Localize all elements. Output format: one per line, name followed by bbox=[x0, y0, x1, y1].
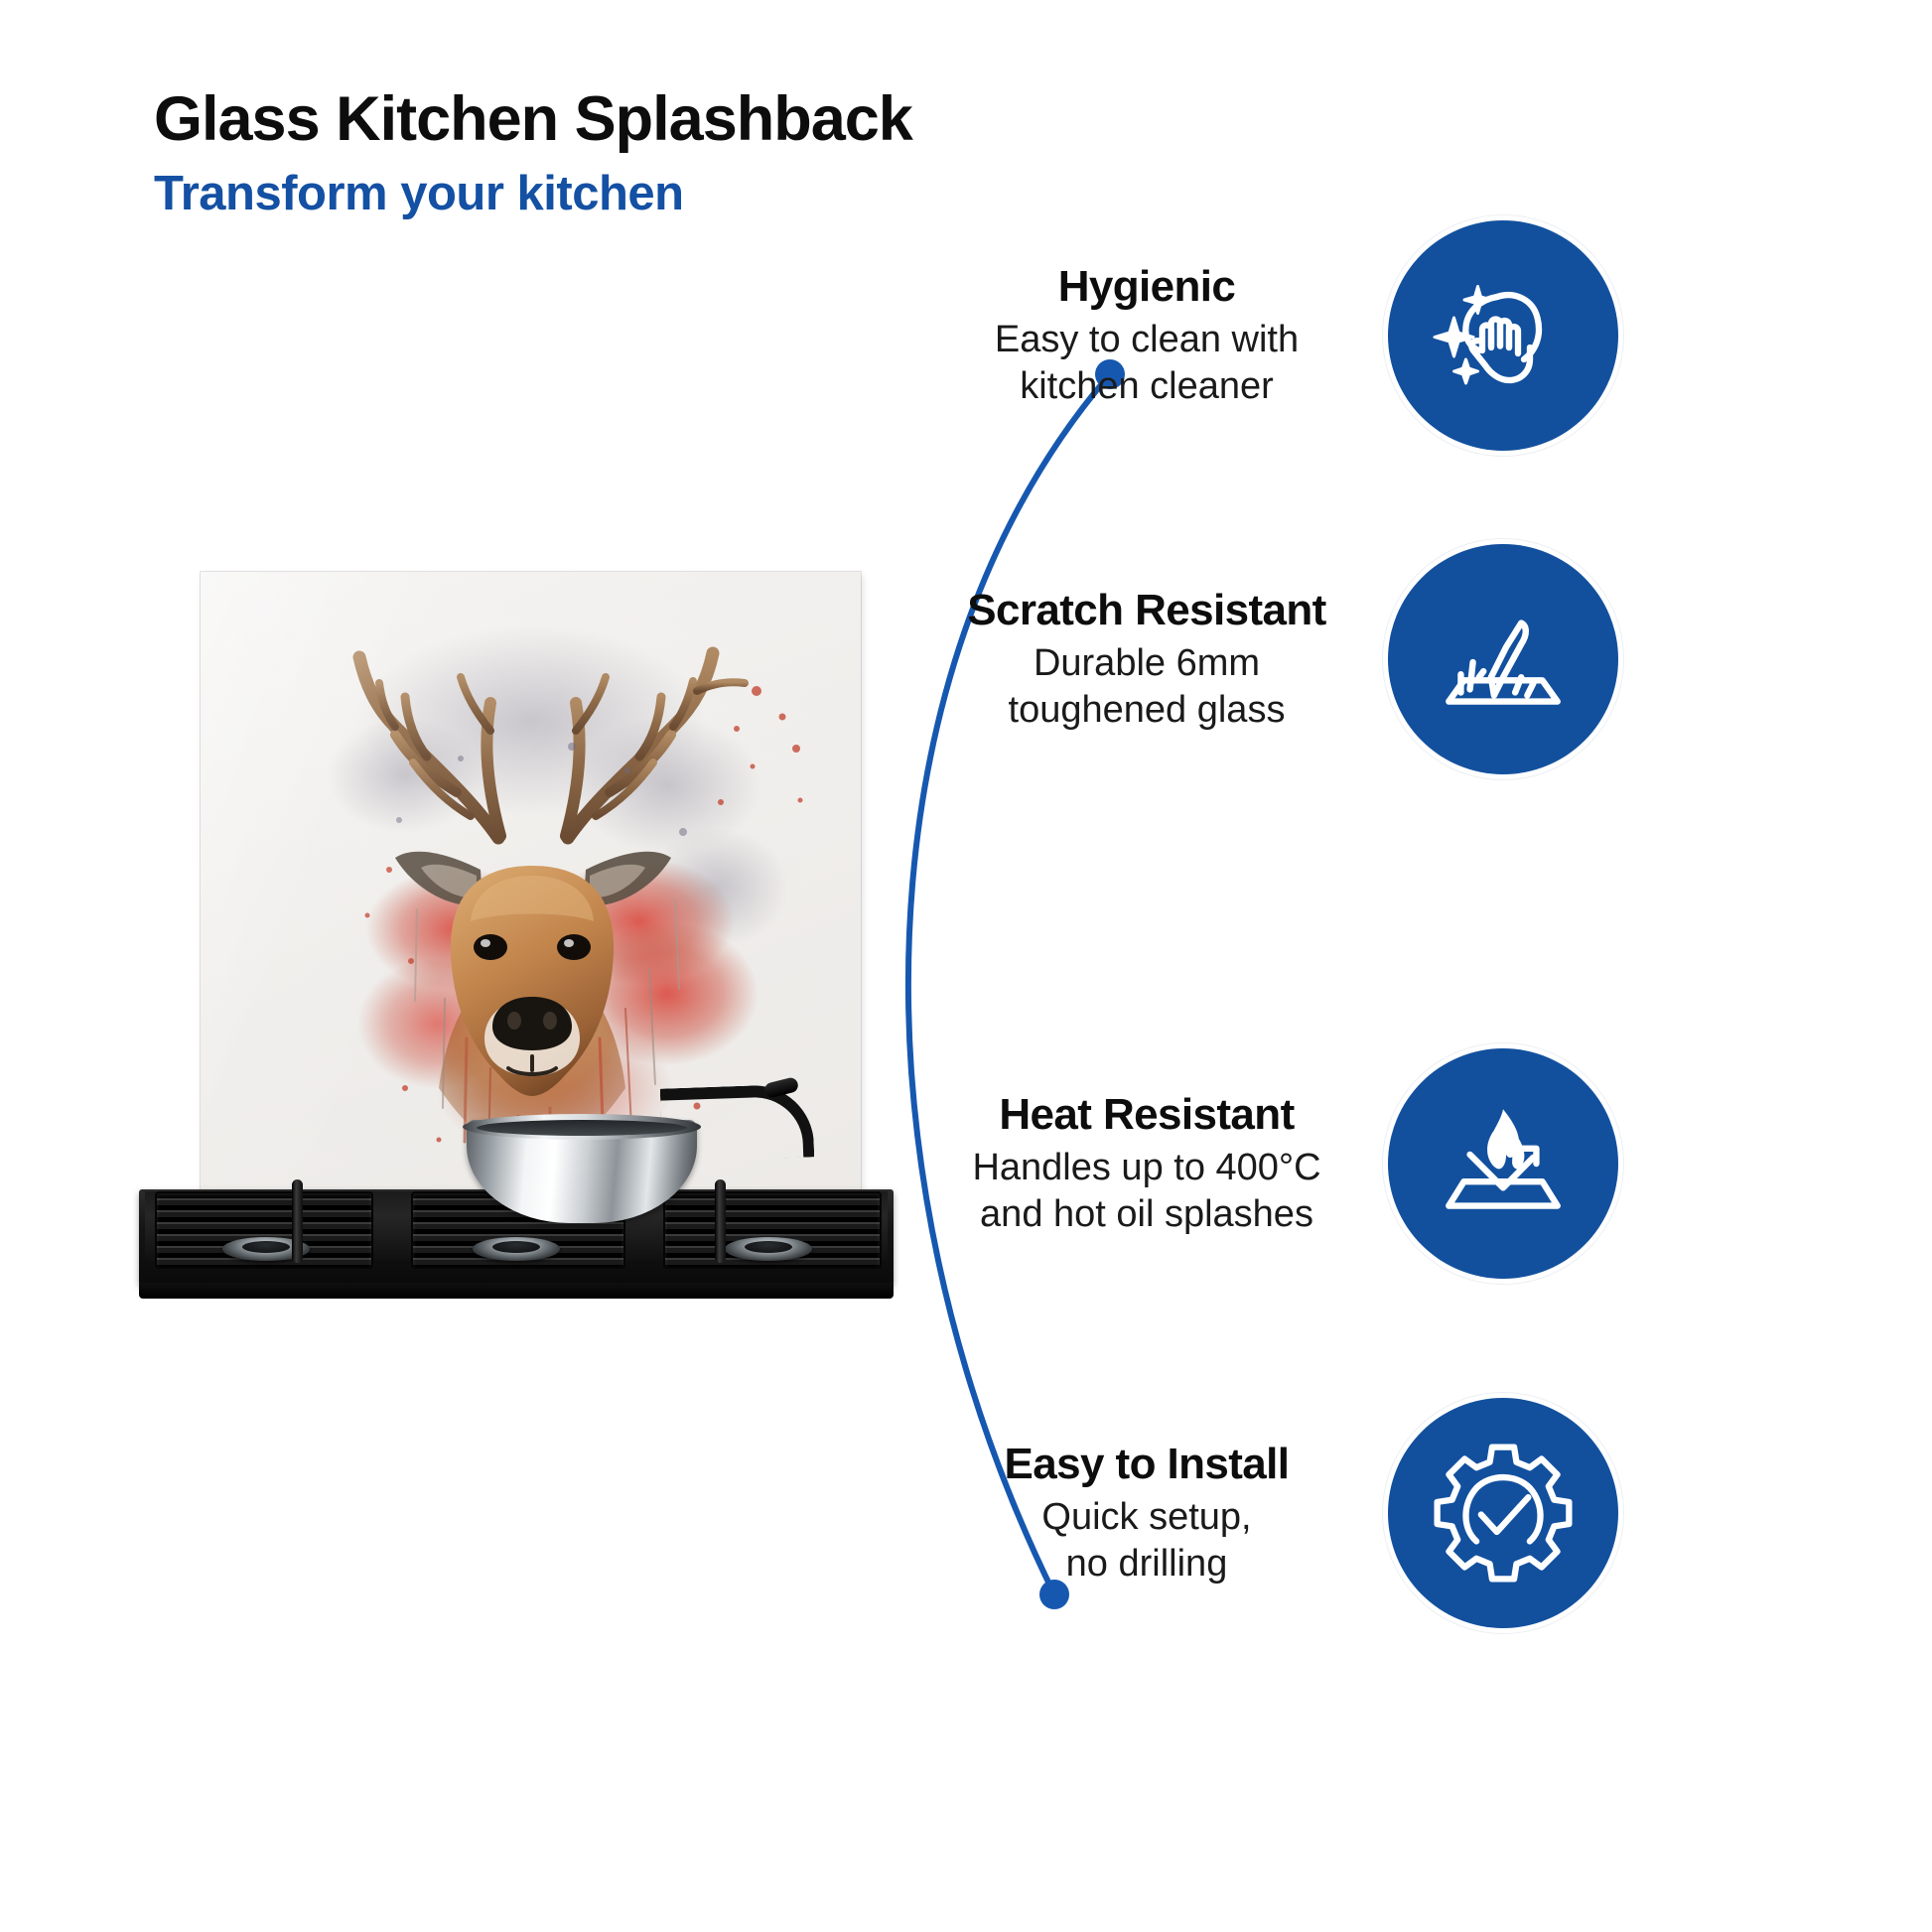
hob-front-edge bbox=[139, 1283, 894, 1299]
feature-scratch-resistant-desc-line2: toughened glass bbox=[933, 687, 1360, 733]
page-title: Glass Kitchen Splashback bbox=[154, 85, 1147, 154]
feature-scratch-resistant-text: Scratch Resistant Durable 6mm toughened … bbox=[933, 586, 1388, 733]
feature-heat-resistant-title: Heat Resistant bbox=[933, 1090, 1360, 1139]
feature-easy-to-install: Easy to Install Quick setup, no drilling bbox=[933, 1398, 1618, 1628]
hob-grate-arch-left bbox=[292, 1179, 303, 1263]
hob-burner-cap-centre bbox=[492, 1241, 540, 1253]
page-subtitle: Transform your kitchen bbox=[154, 168, 1147, 221]
saucepan-interior bbox=[477, 1120, 687, 1136]
feature-hygienic-desc: Easy to clean with kitchen cleaner bbox=[933, 317, 1360, 409]
feature-hygienic-desc-line1: Easy to clean with bbox=[933, 317, 1360, 362]
hygienic-icon-circle bbox=[1388, 220, 1618, 451]
saucepan bbox=[467, 1102, 794, 1233]
hob-burner-cap-left bbox=[242, 1241, 290, 1253]
feature-heat-resistant-text: Heat Resistant Handles up to 400°C and h… bbox=[933, 1090, 1388, 1237]
feature-heat-resistant-desc: Handles up to 400°C and hot oil splashes bbox=[933, 1145, 1360, 1237]
scratch-resistant-icon-circle bbox=[1388, 544, 1618, 774]
gear-check-icon bbox=[1425, 1435, 1582, 1591]
feature-scratch-resistant-desc-line1: Durable 6mm bbox=[933, 640, 1360, 686]
product-photo bbox=[139, 556, 894, 1311]
heat-resistant-icon-circle bbox=[1388, 1048, 1618, 1279]
feature-scratch-resistant-title: Scratch Resistant bbox=[933, 586, 1360, 634]
header-block: Glass Kitchen Splashback Transform your … bbox=[154, 85, 1147, 221]
feature-easy-to-install-desc-line2: no drilling bbox=[933, 1541, 1360, 1587]
feature-scratch-resistant: Scratch Resistant Durable 6mm toughened … bbox=[933, 544, 1618, 774]
feature-hygienic-desc-line2: kitchen cleaner bbox=[933, 363, 1360, 409]
feature-easy-to-install-desc: Quick setup, no drilling bbox=[933, 1494, 1360, 1587]
feature-heat-resistant-desc-line1: Handles up to 400°C bbox=[933, 1145, 1360, 1190]
hand-wiping-sparkle-icon bbox=[1429, 261, 1578, 410]
hob-burner-cap-right bbox=[745, 1241, 792, 1253]
feature-heat-resistant: Heat Resistant Handles up to 400°C and h… bbox=[933, 1048, 1618, 1279]
infographic-canvas: Glass Kitchen Splashback Transform your … bbox=[0, 0, 1932, 1932]
feature-hygienic-text: Hygienic Easy to clean with kitchen clea… bbox=[933, 262, 1388, 409]
feature-hygienic: Hygienic Easy to clean with kitchen clea… bbox=[933, 220, 1618, 451]
feature-easy-to-install-title: Easy to Install bbox=[933, 1440, 1360, 1488]
feature-hygienic-title: Hygienic bbox=[933, 262, 1360, 311]
feature-easy-to-install-text: Easy to Install Quick setup, no drilling bbox=[933, 1440, 1388, 1587]
feature-easy-to-install-desc-line1: Quick setup, bbox=[933, 1494, 1360, 1540]
feature-heat-resistant-desc-line2: and hot oil splashes bbox=[933, 1191, 1360, 1237]
flame-deflect-surface-icon bbox=[1428, 1088, 1579, 1239]
easy-to-install-icon-circle bbox=[1388, 1398, 1618, 1628]
knife-scratch-surface-icon bbox=[1428, 584, 1579, 735]
feature-scratch-resistant-desc: Durable 6mm toughened glass bbox=[933, 640, 1360, 733]
